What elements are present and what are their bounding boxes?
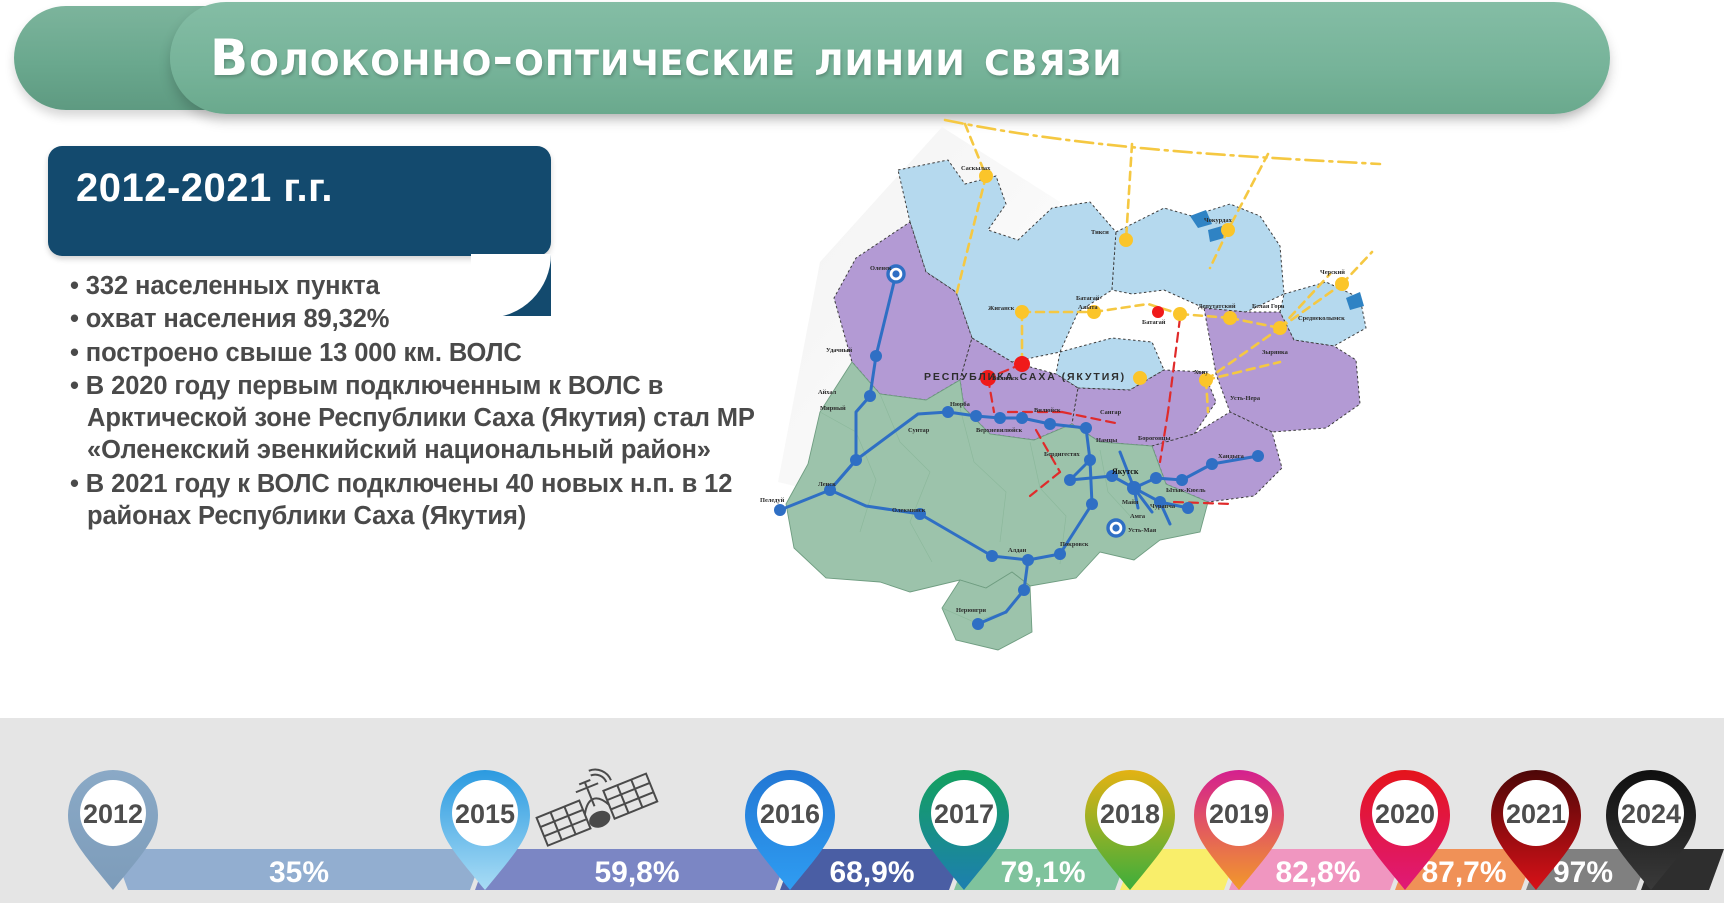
city-label-khonuu: Хону: [1194, 369, 1209, 376]
city-label-pokrovsk: Покровск: [1060, 541, 1089, 548]
summary-bullet-list: • 332 населенных пункта • охват населени…: [70, 270, 770, 533]
period-callout: 2012-2021 г.г.: [48, 146, 551, 256]
header-banner-main: Волоконно-оптические линии связи: [170, 2, 1610, 114]
city-label-sangar: Сангар: [1100, 409, 1122, 416]
pct-2012: 35%: [269, 856, 329, 889]
list-item: • 332 населенных пункта: [70, 270, 770, 302]
city-label-vilyuysk: Вилюйск: [1034, 407, 1061, 414]
city-label-olekminsk: Олекминск: [892, 507, 926, 514]
pin-label-2016: 2016: [760, 799, 820, 829]
city-label-churapcha: Чурапча: [1150, 503, 1176, 510]
pct-2016: 68,9%: [829, 856, 914, 889]
pin-label-2012: 2012: [83, 799, 143, 829]
city-label-belaya-gora: Белая Гора: [1252, 303, 1285, 310]
city-label-borogontsy: Борогонцы: [1138, 435, 1170, 442]
pin-label-2018: 2018: [1100, 799, 1160, 829]
pin-label-2017: 2017: [934, 799, 994, 829]
city-label-srednekolymsk: Среднеколымск: [1298, 315, 1345, 322]
map-svg: Саскылах Тикси Чокурдах Черский Депутатс…: [760, 112, 1400, 657]
city-label-mirny: Мирный: [820, 405, 846, 412]
city-label-khandyga: Хандыга: [1218, 453, 1245, 460]
city-label-aldan: Алдан: [1008, 547, 1027, 554]
pct-2015: 59,8%: [594, 856, 679, 889]
header-banner: Волоконно-оптические линии связи: [0, 2, 1630, 114]
city-label-udachny: Удачный: [826, 347, 853, 354]
city-label-suntar: Сунтар: [908, 427, 930, 434]
pct-2021: 97%: [1553, 856, 1613, 889]
city-label-ust-nera: Усть-Нера: [1230, 395, 1261, 402]
pin-label-2021: 2021: [1506, 799, 1566, 829]
city-label-zyryanka: Зырянка: [1262, 349, 1289, 356]
period-callout-title: 2012-2021 г.г.: [76, 168, 333, 208]
city-label-lensk: Ленск: [818, 481, 836, 488]
yakutia-fiber-map: Саскылах Тикси Чокурдах Черский Депутатс…: [760, 112, 1400, 657]
pct-2019: 82,8%: [1275, 856, 1360, 889]
list-item: • построено свыше 13 000 км. ВОЛС: [70, 337, 770, 369]
pin-label-2019: 2019: [1209, 799, 1269, 829]
city-label-aykhal: Айхал: [818, 389, 837, 396]
city-label-ust-maya: Усть-Мая: [1128, 527, 1157, 534]
city-label-deputatskiy: Депутатский: [1198, 303, 1236, 310]
city-label-peleduy: Пеледуй: [760, 497, 785, 504]
city-label-bataga-alyta2: Алыта: [1078, 304, 1098, 311]
city-label-cherskiy: Черский: [1320, 269, 1345, 276]
satellite-icon: [528, 751, 659, 848]
city-label-yakutsk: Якутск: [1112, 467, 1139, 476]
city-label-verkhnevilyuysk: Верхневилюйск: [976, 427, 1022, 434]
page-title: Волоконно-оптические линии связи: [210, 33, 1123, 83]
city-label-neryungri: Нерюнгри: [956, 607, 986, 614]
list-item: • охват населения 89,32%: [70, 303, 770, 335]
map-region-label: РЕСПУБЛИКА САХА (ЯКУТИЯ): [924, 371, 1126, 383]
city-label-bataga-alyta: Батагай-: [1076, 295, 1102, 302]
city-label-amga: Амга: [1130, 513, 1146, 520]
pct-2017: 79,1%: [1000, 856, 1085, 889]
list-item: • В 2020 году первым подключенным к ВОЛС…: [70, 370, 770, 467]
pct-2020: 87,7%: [1421, 856, 1506, 889]
city-label-saskylakh: Саскылах: [961, 165, 991, 172]
progress-timeline: 35% 59,8% 68,9% 79,1% 82,8% 87,7% 97%: [0, 718, 1724, 903]
city-label-tiksi: Тикси: [1091, 229, 1109, 236]
city-label-zhigansk: Жиганск: [988, 305, 1015, 312]
city-label-chokurdakh: Чокурдах: [1204, 217, 1233, 224]
pin-label-2020: 2020: [1375, 799, 1435, 829]
city-label-ytyk-kyuyel: Ытык-Кюель: [1166, 487, 1206, 494]
city-label-batagay: Батагай: [1142, 319, 1166, 326]
timeline-svg: 35% 59,8% 68,9% 79,1% 82,8% 87,7% 97%: [0, 718, 1724, 903]
list-item: • В 2021 году к ВОЛС подключены 40 новых…: [70, 468, 770, 533]
pin-label-2024: 2024: [1621, 799, 1681, 829]
city-label-olenek: Оленек: [870, 265, 892, 272]
city-label-nyurba: Нюрба: [950, 401, 971, 408]
city-label-berdigestyakh: Бердигестях: [1044, 451, 1081, 458]
pin-label-2015: 2015: [455, 799, 515, 829]
city-label-namtsy: Намцы: [1096, 437, 1117, 444]
city-label-maya: Майя: [1122, 499, 1139, 506]
